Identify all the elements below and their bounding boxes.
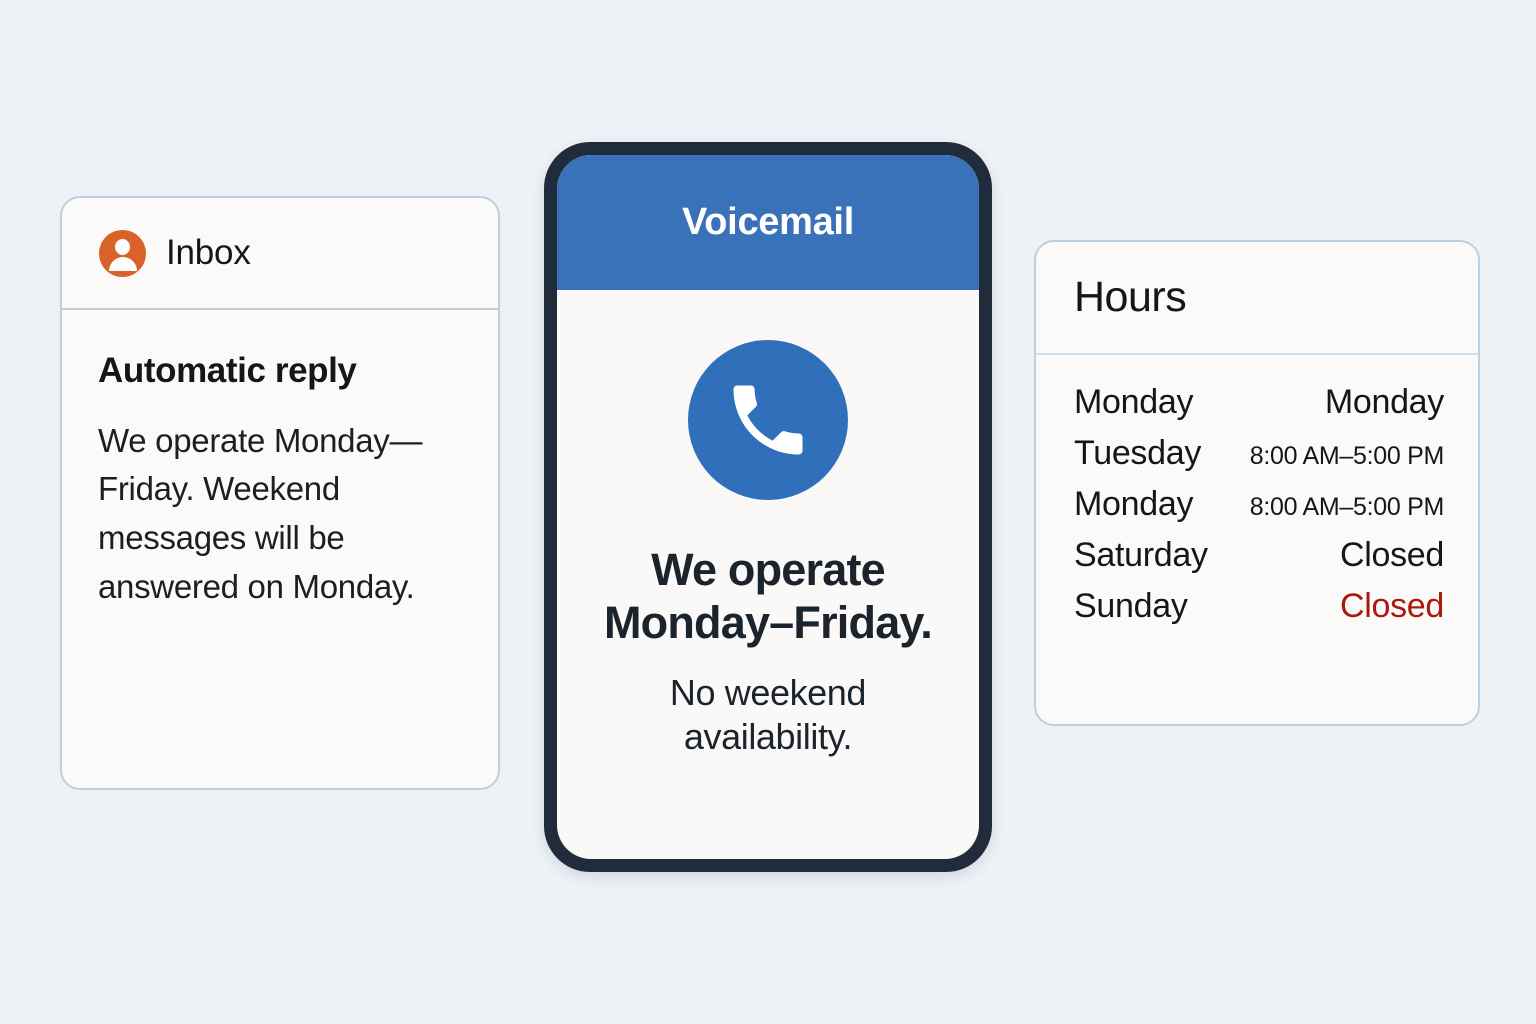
phone-screen: Voicemail We operate Monday–Friday. No w… bbox=[557, 155, 979, 859]
hours-list: MondayMondayTuesday8:00 AM–5:00 PMMonday… bbox=[1036, 355, 1478, 626]
automatic-reply-heading: Automatic reply bbox=[98, 352, 462, 391]
hours-row-value: Closed bbox=[1340, 536, 1444, 575]
hours-row-value: Closed bbox=[1340, 587, 1444, 626]
inbox-title: Inbox bbox=[166, 233, 251, 273]
canvas: Inbox Automatic reply We operate Monday—… bbox=[0, 0, 1536, 1024]
hours-row-value: 8:00 AM–5:00 PM bbox=[1250, 493, 1444, 522]
hours-row: SundayClosed bbox=[1074, 587, 1444, 626]
hours-row: Monday8:00 AM–5:00 PM bbox=[1074, 485, 1444, 524]
inbox-card: Inbox Automatic reply We operate Monday—… bbox=[60, 196, 500, 790]
avatar-head-shape bbox=[115, 239, 130, 255]
voicemail-content: We operate Monday–Friday. No weekend ava… bbox=[557, 290, 979, 859]
inbox-card-body: Automatic reply We operate Monday—Friday… bbox=[62, 310, 498, 612]
person-avatar-icon bbox=[99, 230, 146, 277]
hours-row-day: Saturday bbox=[1074, 536, 1208, 575]
inbox-card-header: Inbox bbox=[62, 198, 498, 310]
hours-row-day: Monday bbox=[1074, 383, 1193, 422]
phone-mockup: Voicemail We operate Monday–Friday. No w… bbox=[544, 142, 992, 872]
hours-row-day: Sunday bbox=[1074, 587, 1188, 626]
hours-row-day: Tuesday bbox=[1074, 434, 1201, 473]
hours-card: Hours MondayMondayTuesday8:00 AM–5:00 PM… bbox=[1034, 240, 1480, 726]
avatar-body-shape bbox=[109, 257, 137, 271]
voicemail-app-bar: Voicemail bbox=[557, 155, 979, 290]
hours-row-value: 8:00 AM–5:00 PM bbox=[1250, 442, 1444, 471]
hours-row-day: Monday bbox=[1074, 485, 1193, 524]
hours-row-value: Monday bbox=[1325, 383, 1444, 422]
hours-row: Tuesday8:00 AM–5:00 PM bbox=[1074, 434, 1444, 473]
hours-card-header: Hours bbox=[1036, 242, 1478, 355]
hours-row: SaturdayClosed bbox=[1074, 536, 1444, 575]
phone-handset-icon bbox=[688, 340, 848, 500]
hours-row: MondayMonday bbox=[1074, 383, 1444, 422]
voicemail-title: Voicemail bbox=[682, 201, 854, 244]
voicemail-heading: We operate Monday–Friday. bbox=[557, 544, 979, 649]
voicemail-subtext: No weekend availability. bbox=[557, 671, 979, 759]
hours-title: Hours bbox=[1074, 273, 1186, 322]
automatic-reply-text: We operate Monday—Friday. Weekend messag… bbox=[98, 417, 462, 612]
